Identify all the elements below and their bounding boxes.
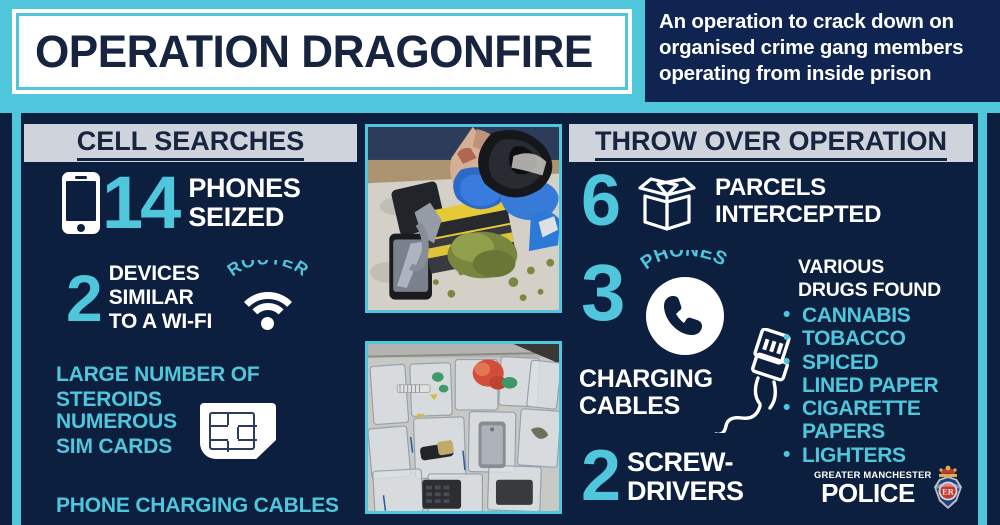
gmp-logo-text: GREATER MANCHESTER POLICE [814,469,922,506]
body-area: CELL SEARCHES 14 PHONESSEIZED 2 DEVICESS… [0,113,1000,525]
accent-stripe-right [978,113,987,525]
wifi-router-icon-group: ROUTER [218,262,318,334]
mobile-phone-icon [62,172,100,234]
sim-chip-outline [209,412,255,450]
photo-seized-items-image [368,127,559,310]
telephone-handset-icon [646,277,724,355]
sim-card-icon [200,403,276,459]
phones-seized-label: PHONESSEIZED [188,174,300,232]
screwdrivers-label: SCREW-DRIVERS [627,448,744,506]
gmp-crest-icon: ER [926,465,970,515]
svg-text:ER: ER [942,488,955,497]
charging-cables-label: CHARGINGCABLES [579,366,713,420]
header-banner: OPERATION DRAGONFIRE An operation to cra… [0,0,1000,113]
phones-found-count: 3 [581,255,624,331]
gmp-logo: GREATER MANCHESTER POLICE ER [814,465,969,517]
list-item: SPICEDLINED PAPER [782,352,977,397]
wifi-devices-count: 2 [66,269,101,327]
cell-searches-heading: CELL SEARCHES [24,124,357,162]
list-item: CANNABIS [782,305,977,328]
router-word-text: ROUTER [224,260,313,280]
photo-evidence-bags [365,341,562,514]
title-inner-frame: OPERATION DRAGONFIRE [16,13,628,90]
list-item: TOBACCO [782,328,977,351]
title-box: OPERATION DRAGONFIRE [12,9,632,94]
photo-evidence-bags-image [368,344,559,512]
list-item: LIGHTERS [782,445,977,468]
screwdrivers-count: 2 [581,445,619,508]
cell-searches-heading-text: CELL SEARCHES [77,126,305,161]
phones-seized-count: 14 [102,170,178,235]
stat-wifi-devices: 2 DEVICESSIMILARTO A WI-FI ROUTER [66,262,318,334]
gmp-logo-line2: POLICE [814,480,922,506]
photo-seized-items [365,124,562,313]
throw-over-operation-column: THROW OVER OPERATION 6 PARCELSINTERCEPTE… [569,113,973,525]
drugs-found-list: CANNABIS TOBACCO SPICEDLINED PAPER CIGAR… [782,305,977,468]
accent-stripe-left [12,113,21,525]
cell-searches-column: CELL SEARCHES 14 PHONESSEIZED 2 DEVICESS… [24,113,357,525]
drugs-found-title: VARIOUSDRUGS FOUND [782,256,977,302]
bullet-sim-cards: NUMEROUSSIM CARDS [56,410,177,460]
parcels-count: 6 [581,170,619,233]
wifi-dot [261,317,274,330]
drugs-found-block: VARIOUSDRUGS FOUND CANNABIS TOBACCO SPIC… [782,256,977,468]
handset-glyph [659,290,711,342]
bullet-phone-charging-cables: PHONE CHARGING CABLES [56,494,339,519]
wifi-devices-label: DEVICESSIMILARTO A WI-FI [109,262,212,333]
stat-parcels-intercepted: 6 PARCELSINTERCEPTED [581,170,881,233]
phones-word-text: PHONES [636,250,730,274]
stat-screwdrivers: 2 SCREW-DRIVERS [581,445,744,508]
open-box-icon [631,171,703,233]
throw-over-heading: THROW OVER OPERATION [569,124,973,162]
stat-phones-seized: 14 PHONESSEIZED [62,170,301,235]
list-item: CIGARETTEPAPERS [782,398,977,443]
subtitle-box: An operation to crack down on organised … [645,0,1000,102]
header-subtitle: An operation to crack down on organised … [659,9,990,86]
page-title: OPERATION DRAGONFIRE [35,29,593,74]
parcels-label: PARCELSINTERCEPTED [715,175,881,228]
throw-over-heading-text: THROW OVER OPERATION [595,126,947,161]
